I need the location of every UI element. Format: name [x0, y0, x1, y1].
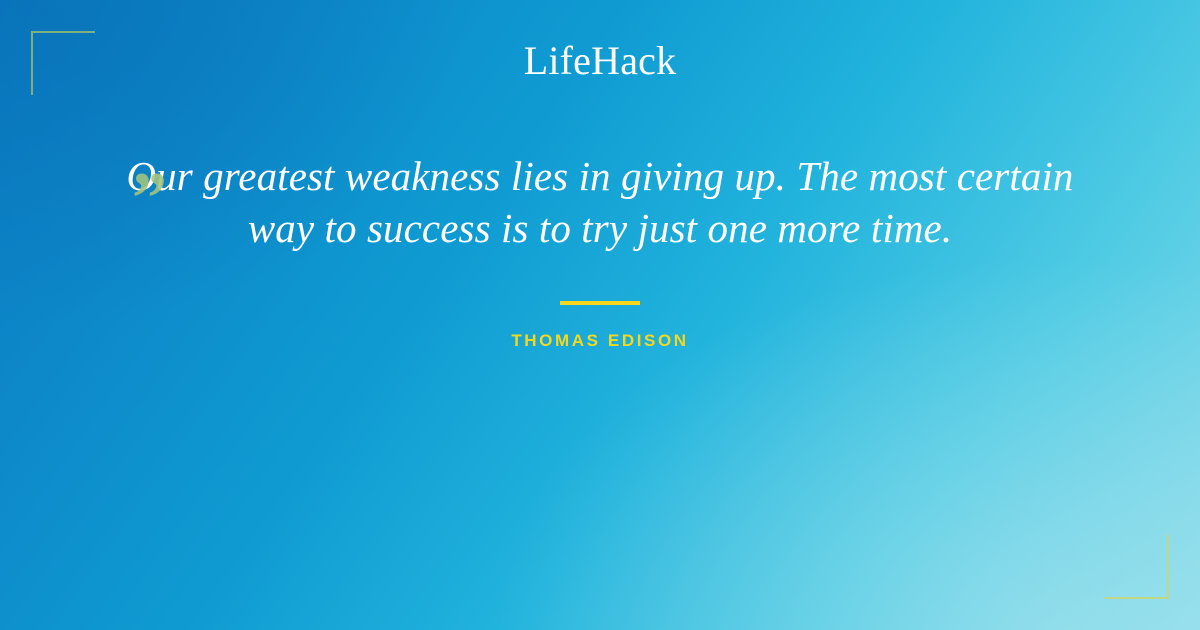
quote-line-2: way to success is to try just one more t… [248, 205, 952, 251]
quote-block: ” Our greatest weakness lies in giving u… [0, 150, 1200, 351]
quote-author: THOMAS EDISON [0, 331, 1200, 351]
quote-text: Our greatest weakness lies in giving up.… [0, 150, 1200, 254]
quote-card: LifeHack ” Our greatest weakness lies in… [0, 0, 1200, 630]
quotation-mark-icon: ” [128, 162, 165, 236]
author-divider [560, 301, 640, 305]
brand-logo: LifeHack [0, 0, 1200, 122]
corner-bracket-bottom-right-icon [1105, 535, 1169, 599]
brand-name: LifeHack [524, 41, 677, 81]
quote-line-1: Our greatest weakness lies in giving up.… [126, 153, 1073, 199]
